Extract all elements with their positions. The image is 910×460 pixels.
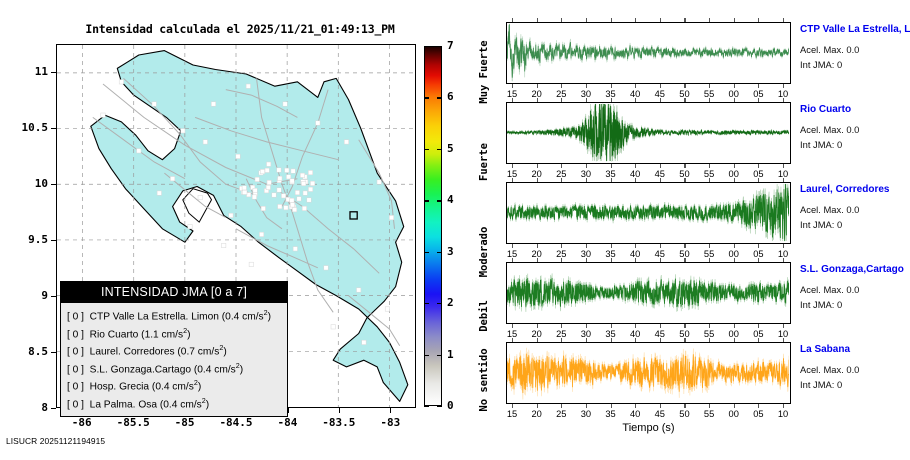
trace-tick [561, 324, 562, 328]
colorbar-category: Moderado [478, 226, 490, 277]
colorbar-tick [424, 46, 429, 47]
map-y-tick [51, 128, 56, 129]
station-max-accel: Acel. Max. 0.0 [800, 124, 859, 135]
map-x-label: -83.5 [311, 416, 367, 429]
map-x-tick [339, 408, 340, 413]
trace-tick [734, 258, 735, 262]
trace-tick [512, 18, 513, 22]
legend-rows: [ 0 ] CTP Valle La Estrella. Limon (0.4 … [61, 303, 287, 416]
trace-tick [635, 18, 636, 22]
colorbar-tick [437, 200, 442, 201]
trace-tick [660, 164, 661, 168]
colorbar-tick [437, 46, 442, 47]
seismogram-trace[interactable] [506, 102, 791, 164]
trace-tick [635, 178, 636, 182]
station-jma-intensity: Int JMA: 0 [800, 299, 842, 310]
trace-tick [734, 324, 735, 328]
colorbar-number: 4 [447, 193, 454, 206]
legend-title: INTENSIDAD JMA [0 a 7] [61, 282, 287, 303]
colorbar-category: No sentido [478, 349, 490, 412]
seismogram-trace[interactable] [506, 262, 791, 324]
trace-tick [611, 18, 612, 22]
time-axis-title: Tiempo (s) [506, 422, 791, 434]
station-name: La Sabana [800, 344, 850, 355]
colorbar-tick [424, 355, 429, 356]
colorbar-tick [424, 252, 429, 253]
trace-tick [734, 18, 735, 22]
trace-tick [709, 244, 710, 248]
trace-tick [561, 18, 562, 22]
trace-x-label: 55 [699, 409, 719, 419]
trace-tick [611, 84, 612, 88]
legend-row: [ 0 ] Laurel. Corredores (0.7 cm/s2) [67, 341, 287, 359]
colorbar-number: 7 [447, 39, 454, 52]
trace-x-label: 10 [773, 409, 793, 419]
trace-tick [586, 258, 587, 262]
trace-x-label: 20 [527, 409, 547, 419]
colorbar-category: Debil [478, 300, 490, 332]
trace-tick [635, 324, 636, 328]
seismogram-trace[interactable] [506, 342, 791, 404]
trace-tick [586, 404, 587, 408]
colorbar-number: 3 [447, 245, 454, 258]
waveform-canvas [507, 263, 789, 322]
trace-tick [611, 98, 612, 102]
map-y-tick [51, 408, 56, 409]
trace-tick [783, 258, 784, 262]
trace-tick [660, 244, 661, 248]
trace-tick [561, 244, 562, 248]
trace-tick [611, 338, 612, 342]
trace-x-label: 00 [724, 409, 744, 419]
trace-tick [512, 84, 513, 88]
trace-tick [684, 244, 685, 248]
colorbar-number: 0 [447, 399, 454, 412]
trace-tick [635, 404, 636, 408]
app-root: Intensidad calculada el 2025/11/21_01:49… [0, 0, 910, 460]
map-y-label: 9 [4, 289, 48, 302]
trace-tick [758, 404, 759, 408]
trace-tick [758, 258, 759, 262]
trace-tick [635, 338, 636, 342]
station-max-accel: Acel. Max. 0.0 [800, 284, 859, 295]
trace-tick [734, 178, 735, 182]
trace-tick [684, 324, 685, 328]
map-y-label: 10 [4, 177, 48, 190]
trace-tick [561, 258, 562, 262]
trace-tick [709, 324, 710, 328]
map-x-label: -84.5 [208, 416, 264, 429]
station-name: Rio Cuarto [800, 104, 851, 115]
station-jma-intensity: Int JMA: 0 [800, 59, 842, 70]
waveform-line [507, 104, 789, 161]
colorbar-tick [437, 355, 442, 356]
station-max-accel: Acel. Max. 0.0 [800, 204, 859, 215]
trace-tick [709, 178, 710, 182]
waveform-canvas [507, 103, 789, 162]
trace-tick [734, 404, 735, 408]
trace-tick [611, 178, 612, 182]
trace-tick [561, 404, 562, 408]
map-y-tick [51, 352, 56, 353]
trace-tick [758, 164, 759, 168]
station-jma-intensity: Int JMA: 0 [800, 379, 842, 390]
trace-tick [561, 164, 562, 168]
trace-tick [537, 258, 538, 262]
trace-x-label: 05 [748, 409, 768, 419]
colorbar-tick [424, 406, 429, 407]
legend-row: [ 0 ] La Palma. Osa (0.4 cm/s2) [67, 394, 287, 412]
legend-row: [ 0 ] S.L. Gonzaga.Cartago (0.4 cm/s2) [67, 359, 287, 377]
trace-tick [660, 18, 661, 22]
trace-tick [512, 338, 513, 342]
waveform-line [507, 354, 789, 393]
trace-tick [758, 18, 759, 22]
trace-x-label: 50 [674, 409, 694, 419]
colorbar-number: 6 [447, 90, 454, 103]
trace-tick [783, 404, 784, 408]
colorbar-tick [424, 149, 429, 150]
trace-tick [734, 84, 735, 88]
trace-tick [586, 324, 587, 328]
trace-tick [635, 244, 636, 248]
map-y-label: 9.5 [4, 233, 48, 246]
map-x-label: -83 [362, 416, 418, 429]
trace-tick [512, 244, 513, 248]
trace-tick [783, 178, 784, 182]
trace-tick [635, 164, 636, 168]
map-y-label: 8 [4, 401, 48, 414]
trace-tick [512, 98, 513, 102]
colorbar-tick [424, 200, 429, 201]
trace-tick [537, 84, 538, 88]
trace-tick [635, 84, 636, 88]
map-x-label: -85.5 [105, 416, 161, 429]
trace-tick [783, 244, 784, 248]
waveform-line [507, 184, 789, 241]
waveform-line [507, 24, 789, 77]
trace-tick [611, 404, 612, 408]
trace-tick [783, 164, 784, 168]
colorbar-tick [437, 406, 442, 407]
colorbar-number: 2 [447, 296, 454, 309]
trace-tick [537, 338, 538, 342]
map-x-tick [390, 408, 391, 413]
trace-tick [684, 338, 685, 342]
trace-tick [783, 324, 784, 328]
trace-tick [758, 98, 759, 102]
trace-tick [561, 178, 562, 182]
trace-tick [660, 178, 661, 182]
trace-x-label: 25 [551, 409, 571, 419]
trace-tick [734, 244, 735, 248]
trace-tick [758, 324, 759, 328]
map-y-tick [51, 240, 56, 241]
map-x-label: -86 [54, 416, 110, 429]
colorbar-tick [437, 252, 442, 253]
trace-tick [758, 244, 759, 248]
trace-tick [537, 164, 538, 168]
trace-tick [684, 178, 685, 182]
station-jma-intensity: Int JMA: 0 [800, 219, 842, 230]
trace-tick [758, 338, 759, 342]
intensity-legend: INTENSIDAD JMA [0 a 7] [ 0 ] CTP Valle L… [60, 281, 288, 417]
legend-row: [ 0 ] Rio Cuarto (1.1 cm/s2) [67, 324, 287, 342]
trace-tick [709, 404, 710, 408]
station-name: S.L. Gonzaga,Cartago [800, 264, 904, 275]
map-y-tick [51, 72, 56, 73]
colorbar-tick [437, 149, 442, 150]
trace-tick [561, 338, 562, 342]
trace-tick [684, 404, 685, 408]
trace-tick [783, 18, 784, 22]
seismogram-trace[interactable] [506, 182, 791, 244]
trace-tick [611, 324, 612, 328]
trace-tick [734, 98, 735, 102]
trace-tick [611, 244, 612, 248]
seismogram-trace[interactable] [506, 22, 791, 84]
trace-tick [734, 164, 735, 168]
map-x-label: -84 [259, 416, 315, 429]
trace-tick [758, 84, 759, 88]
trace-tick [586, 164, 587, 168]
trace-tick [709, 164, 710, 168]
waveform-canvas [507, 23, 789, 82]
trace-tick [660, 338, 661, 342]
trace-tick [660, 404, 661, 408]
trace-tick [660, 84, 661, 88]
trace-tick [512, 164, 513, 168]
trace-tick [537, 178, 538, 182]
footer-stamp: LISUCR 20251121194915 [6, 436, 105, 446]
trace-tick [537, 404, 538, 408]
trace-tick [561, 98, 562, 102]
trace-x-label: 45 [650, 409, 670, 419]
trace-tick [758, 178, 759, 182]
trace-x-label: 30 [576, 409, 596, 419]
colorbar-category: Fuerte [478, 143, 490, 181]
trace-tick [709, 258, 710, 262]
trace-tick [586, 98, 587, 102]
colorbar-tick [424, 97, 429, 98]
intensity-colorbar [424, 46, 442, 406]
trace-tick [709, 338, 710, 342]
trace-tick [660, 258, 661, 262]
trace-tick [709, 84, 710, 88]
colorbar-tick [437, 97, 442, 98]
legend-row: [ 0 ] CTP Valle La Estrella. Limon (0.4 … [67, 306, 287, 324]
trace-tick [512, 404, 513, 408]
colorbar-number: 1 [447, 348, 454, 361]
trace-tick [586, 84, 587, 88]
trace-tick [561, 84, 562, 88]
station-jma-intensity: Int JMA: 0 [800, 139, 842, 150]
colorbar-category: Muy Fuerte [478, 40, 490, 103]
legend-row: [ 0 ] Hosp. Grecia (0.4 cm/s2) [67, 376, 287, 394]
station-name: Laurel, Corredores [800, 184, 889, 195]
map-title: Intensidad calculada el 2025/11/21_01:49… [70, 22, 410, 36]
trace-tick [783, 84, 784, 88]
trace-tick [660, 98, 661, 102]
trace-x-label: 40 [625, 409, 645, 419]
trace-x-label: 15 [502, 409, 522, 419]
map-y-tick [51, 184, 56, 185]
trace-tick [611, 164, 612, 168]
trace-tick [684, 98, 685, 102]
trace-tick [586, 338, 587, 342]
trace-tick [537, 244, 538, 248]
map-y-label: 11 [4, 65, 48, 78]
trace-tick [512, 178, 513, 182]
trace-tick [709, 98, 710, 102]
colorbar-tick [437, 303, 442, 304]
colorbar-tick [424, 303, 429, 304]
trace-tick [783, 98, 784, 102]
trace-tick [635, 98, 636, 102]
waveform-canvas [507, 343, 789, 402]
station-max-accel: Acel. Max. 0.0 [800, 44, 859, 55]
trace-tick [512, 324, 513, 328]
trace-tick [635, 258, 636, 262]
map-x-label: -85 [157, 416, 213, 429]
trace-tick [537, 18, 538, 22]
trace-tick [783, 338, 784, 342]
trace-tick [611, 258, 612, 262]
trace-tick [734, 338, 735, 342]
trace-tick [537, 324, 538, 328]
trace-tick [684, 164, 685, 168]
trace-tick [709, 18, 710, 22]
map-y-label: 8.5 [4, 345, 48, 358]
station-max-accel: Acel. Max. 0.0 [800, 364, 859, 375]
trace-tick [537, 98, 538, 102]
trace-tick [512, 258, 513, 262]
map-y-label: 10.5 [4, 121, 48, 134]
trace-tick [684, 18, 685, 22]
station-name: CTP Valle La Estrella, L [800, 24, 910, 35]
trace-tick [660, 324, 661, 328]
trace-tick [684, 258, 685, 262]
trace-tick [586, 244, 587, 248]
waveform-canvas [507, 183, 789, 242]
colorbar-number: 5 [447, 142, 454, 155]
trace-x-label: 35 [601, 409, 621, 419]
map-y-tick [51, 296, 56, 297]
trace-tick [684, 84, 685, 88]
trace-tick [586, 178, 587, 182]
trace-tick [586, 18, 587, 22]
